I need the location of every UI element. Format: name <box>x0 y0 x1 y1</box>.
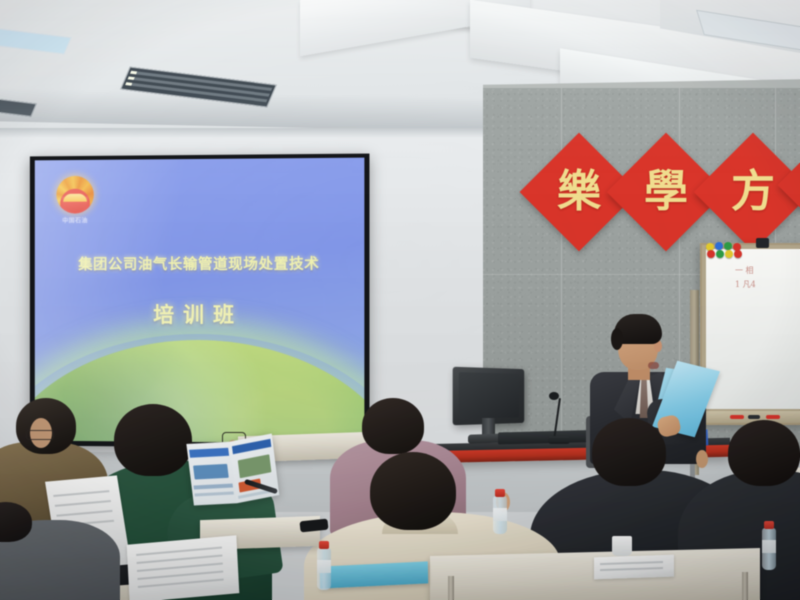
marker-black[interactable] <box>748 415 760 419</box>
marker-red[interactable] <box>766 415 780 419</box>
banner-character <box>792 150 800 220</box>
eyeglasses <box>26 430 54 440</box>
slide-title: 集团公司油气长输管道现场处置技术 <box>35 253 365 275</box>
magnet[interactable] <box>715 242 723 250</box>
cnpc-logo-text: 中国石油 <box>52 216 97 225</box>
bottle-label <box>762 540 776 553</box>
attendee-head <box>362 398 424 454</box>
magnet[interactable] <box>707 250 715 258</box>
brochure-text-line <box>193 484 233 490</box>
bottle-label <box>317 560 331 573</box>
brochure-page-left <box>186 442 237 506</box>
whiteboard-text-line-2: 1 凡4 <box>735 279 795 291</box>
bottle-label <box>493 508 507 521</box>
magnet[interactable] <box>716 250 724 258</box>
whiteboard-clip[interactable] <box>756 238 769 248</box>
brochure-text-line <box>194 491 233 496</box>
desk-leg <box>742 572 748 600</box>
attendee-head <box>592 418 666 486</box>
lcd-monitor <box>453 367 525 426</box>
attendee-foreground-shoulder <box>0 520 120 600</box>
paper-cup[interactable] <box>612 536 632 556</box>
brochure-image <box>238 454 272 478</box>
open-brochure[interactable] <box>187 435 280 507</box>
brochure-image <box>193 464 229 480</box>
cnpc-sunburst-icon <box>56 176 93 214</box>
attendee-head <box>728 420 800 486</box>
attendee-head <box>114 404 192 476</box>
whiteboard-text-line-1: 一 相 <box>735 265 795 277</box>
paper-stack[interactable] <box>594 555 674 580</box>
magnet[interactable] <box>724 242 732 250</box>
bottle-cap <box>495 489 505 497</box>
water-bottle[interactable] <box>762 528 776 570</box>
microphone-head <box>549 392 559 400</box>
cnpc-logo: 中国石油 <box>52 176 97 228</box>
attendee-head <box>370 452 456 530</box>
bottle-cap <box>319 541 329 549</box>
speaker-hair <box>614 314 662 344</box>
magnet[interactable] <box>734 250 742 258</box>
classroom-photo-scene: 中国石油 集团公司油气长输管道现场处置技术 培训班 樂 學 方 一 相 1 凡4 <box>0 0 800 600</box>
banner-character: 方 <box>711 150 795 234</box>
ceiling-light-fixture <box>0 28 72 55</box>
whiteboard[interactable]: 一 相 1 凡4 <box>700 243 800 425</box>
desk-leg <box>448 576 454 600</box>
bottle-cap <box>764 521 774 529</box>
brochure-header-band <box>232 439 271 454</box>
paper-stack[interactable] <box>127 535 240 600</box>
magnet[interactable] <box>725 250 733 258</box>
speaker-mouth <box>648 362 659 369</box>
attendee-head <box>16 398 76 454</box>
slide-subtitle: 培训班 <box>35 299 365 329</box>
water-bottle[interactable] <box>317 548 331 590</box>
whiteboard-surface[interactable]: 一 相 1 凡4 <box>706 249 800 409</box>
water-bottle[interactable] <box>493 496 507 534</box>
brochure-header-band <box>189 448 229 458</box>
